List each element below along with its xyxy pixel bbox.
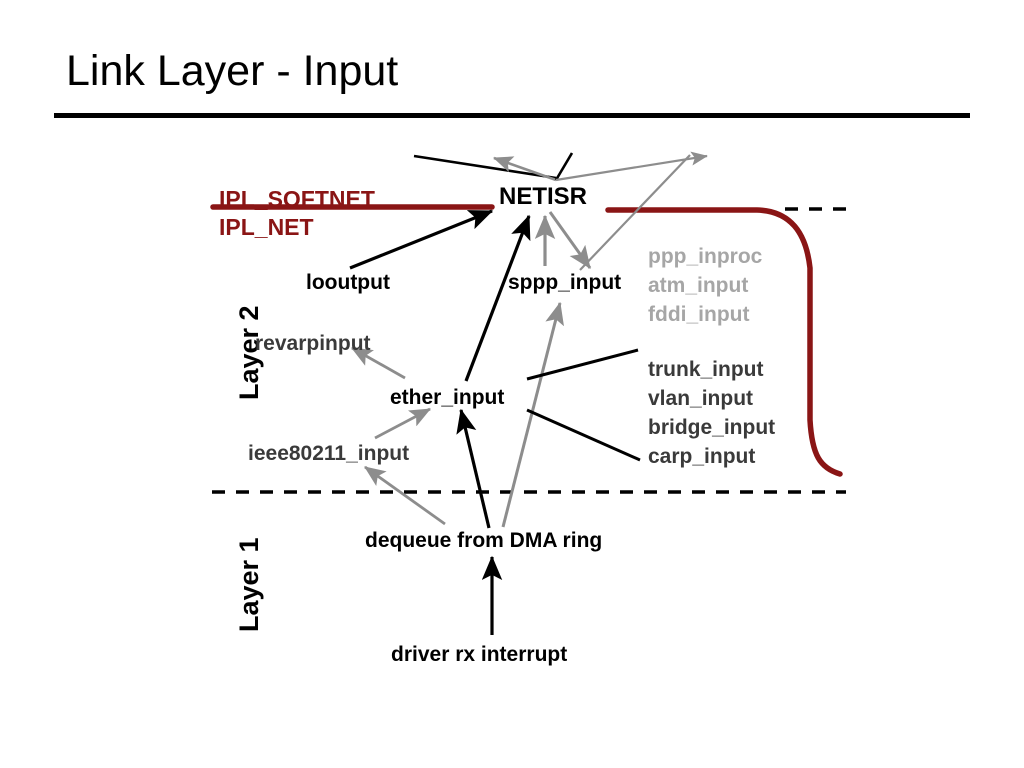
slide: Link Layer - Input — [0, 0, 1024, 768]
node-driver-rx-interrupt[interactable]: driver rx interrupt — [391, 644, 567, 665]
node-ppp-inproc[interactable]: ppp_inproc — [648, 246, 762, 267]
node-revarpinput[interactable]: revarpinput — [255, 333, 371, 354]
connector-netisr-to-ppp-group — [550, 212, 590, 268]
priority-label-ipl-softnet: IPL_SOFTNET — [219, 188, 375, 211]
node-bridge-input[interactable]: bridge_input — [648, 417, 775, 438]
node-ether-input[interactable]: ether_input — [390, 387, 504, 408]
node-looutput[interactable]: looutput — [306, 272, 390, 293]
node-ieee80211-input[interactable]: ieee80211_input — [248, 443, 409, 464]
node-fddi-input[interactable]: fddi_input — [648, 304, 749, 325]
connector-looutput-to-netisr — [350, 211, 492, 268]
priority-label-ipl-net: IPL_NET — [219, 216, 314, 239]
node-atm-input[interactable]: atm_input — [648, 275, 748, 296]
connector-upper-left-black — [414, 156, 556, 178]
node-vlan-input[interactable]: vlan_input — [648, 388, 753, 409]
node-netisr[interactable]: NETISR — [499, 185, 587, 209]
connector-dequeue-to-ieee80211-input — [365, 467, 445, 524]
connector-ieee80211-input-to-ether-input — [375, 409, 430, 438]
connector-netisr-up-black — [556, 153, 572, 180]
node-dequeue-from-dma-ring[interactable]: dequeue from DMA ring — [365, 530, 602, 551]
node-carp-input[interactable]: carp_input — [648, 446, 755, 467]
connector-dequeue-to-ether-input — [461, 410, 489, 528]
connector-ether-input-to-netisr — [466, 216, 529, 381]
connector-ether-input-to-carp-group — [527, 410, 640, 460]
node-sppp-input[interactable]: sppp_input — [508, 272, 621, 293]
node-trunk-input[interactable]: trunk_input — [648, 359, 764, 380]
link-layer-input-diagram: Layer 2 Layer 1 IPL_SOFTNET IPL_NET NETI… — [0, 0, 1024, 768]
layer-label-layer-1: Layer 1 — [234, 537, 265, 632]
